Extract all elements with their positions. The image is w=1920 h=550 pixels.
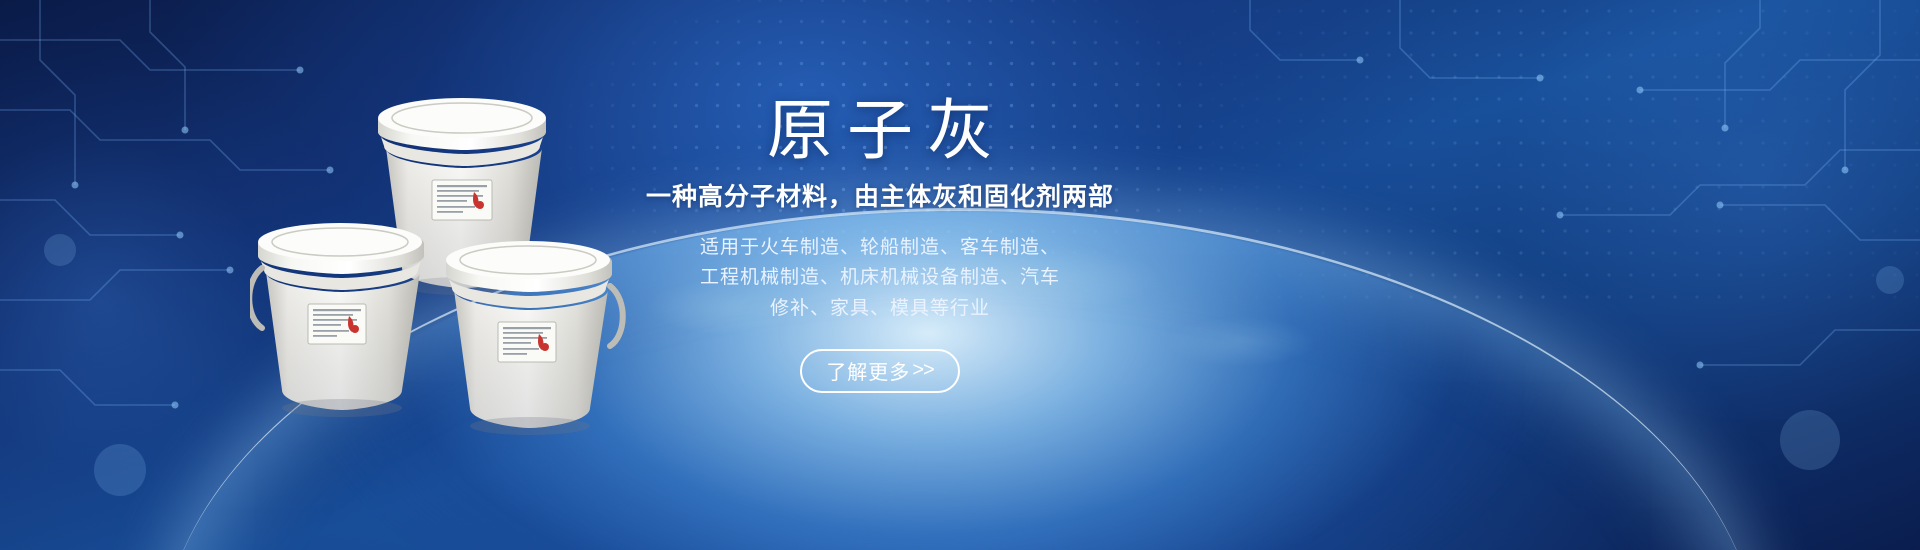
banner-content: 原子灰 一种高分子材料，由主体灰和固化剂两部 适用于火车制造、轮船制造、客车制造…	[600, 96, 1160, 393]
cta-row: 了解更多 >>	[600, 349, 1160, 393]
paint-bucket-icon	[250, 223, 424, 417]
banner-description: 适用于火车制造、轮船制造、客车制造、 工程机械制造、机床机械设备制造、汽车 修补…	[600, 233, 1160, 325]
learn-more-label: 了解更多	[826, 356, 910, 385]
banner-subtitle: 一种高分子材料，由主体灰和固化剂两部	[600, 177, 1160, 213]
paint-bucket-icon	[446, 241, 623, 435]
learn-more-button[interactable]: 了解更多 >>	[800, 349, 960, 393]
hero-banner: 原子灰 一种高分子材料，由主体灰和固化剂两部 适用于火车制造、轮船制造、客车制造…	[0, 0, 1920, 550]
description-line: 适用于火车制造、轮船制造、客车制造、	[600, 233, 1160, 264]
description-line: 工程机械制造、机床机械设备制造、汽车	[600, 263, 1160, 294]
description-line: 修补、家具、模具等行业	[600, 294, 1160, 325]
page-title: 原子灰	[600, 96, 1160, 165]
chevron-right-icon: >>	[912, 359, 933, 382]
